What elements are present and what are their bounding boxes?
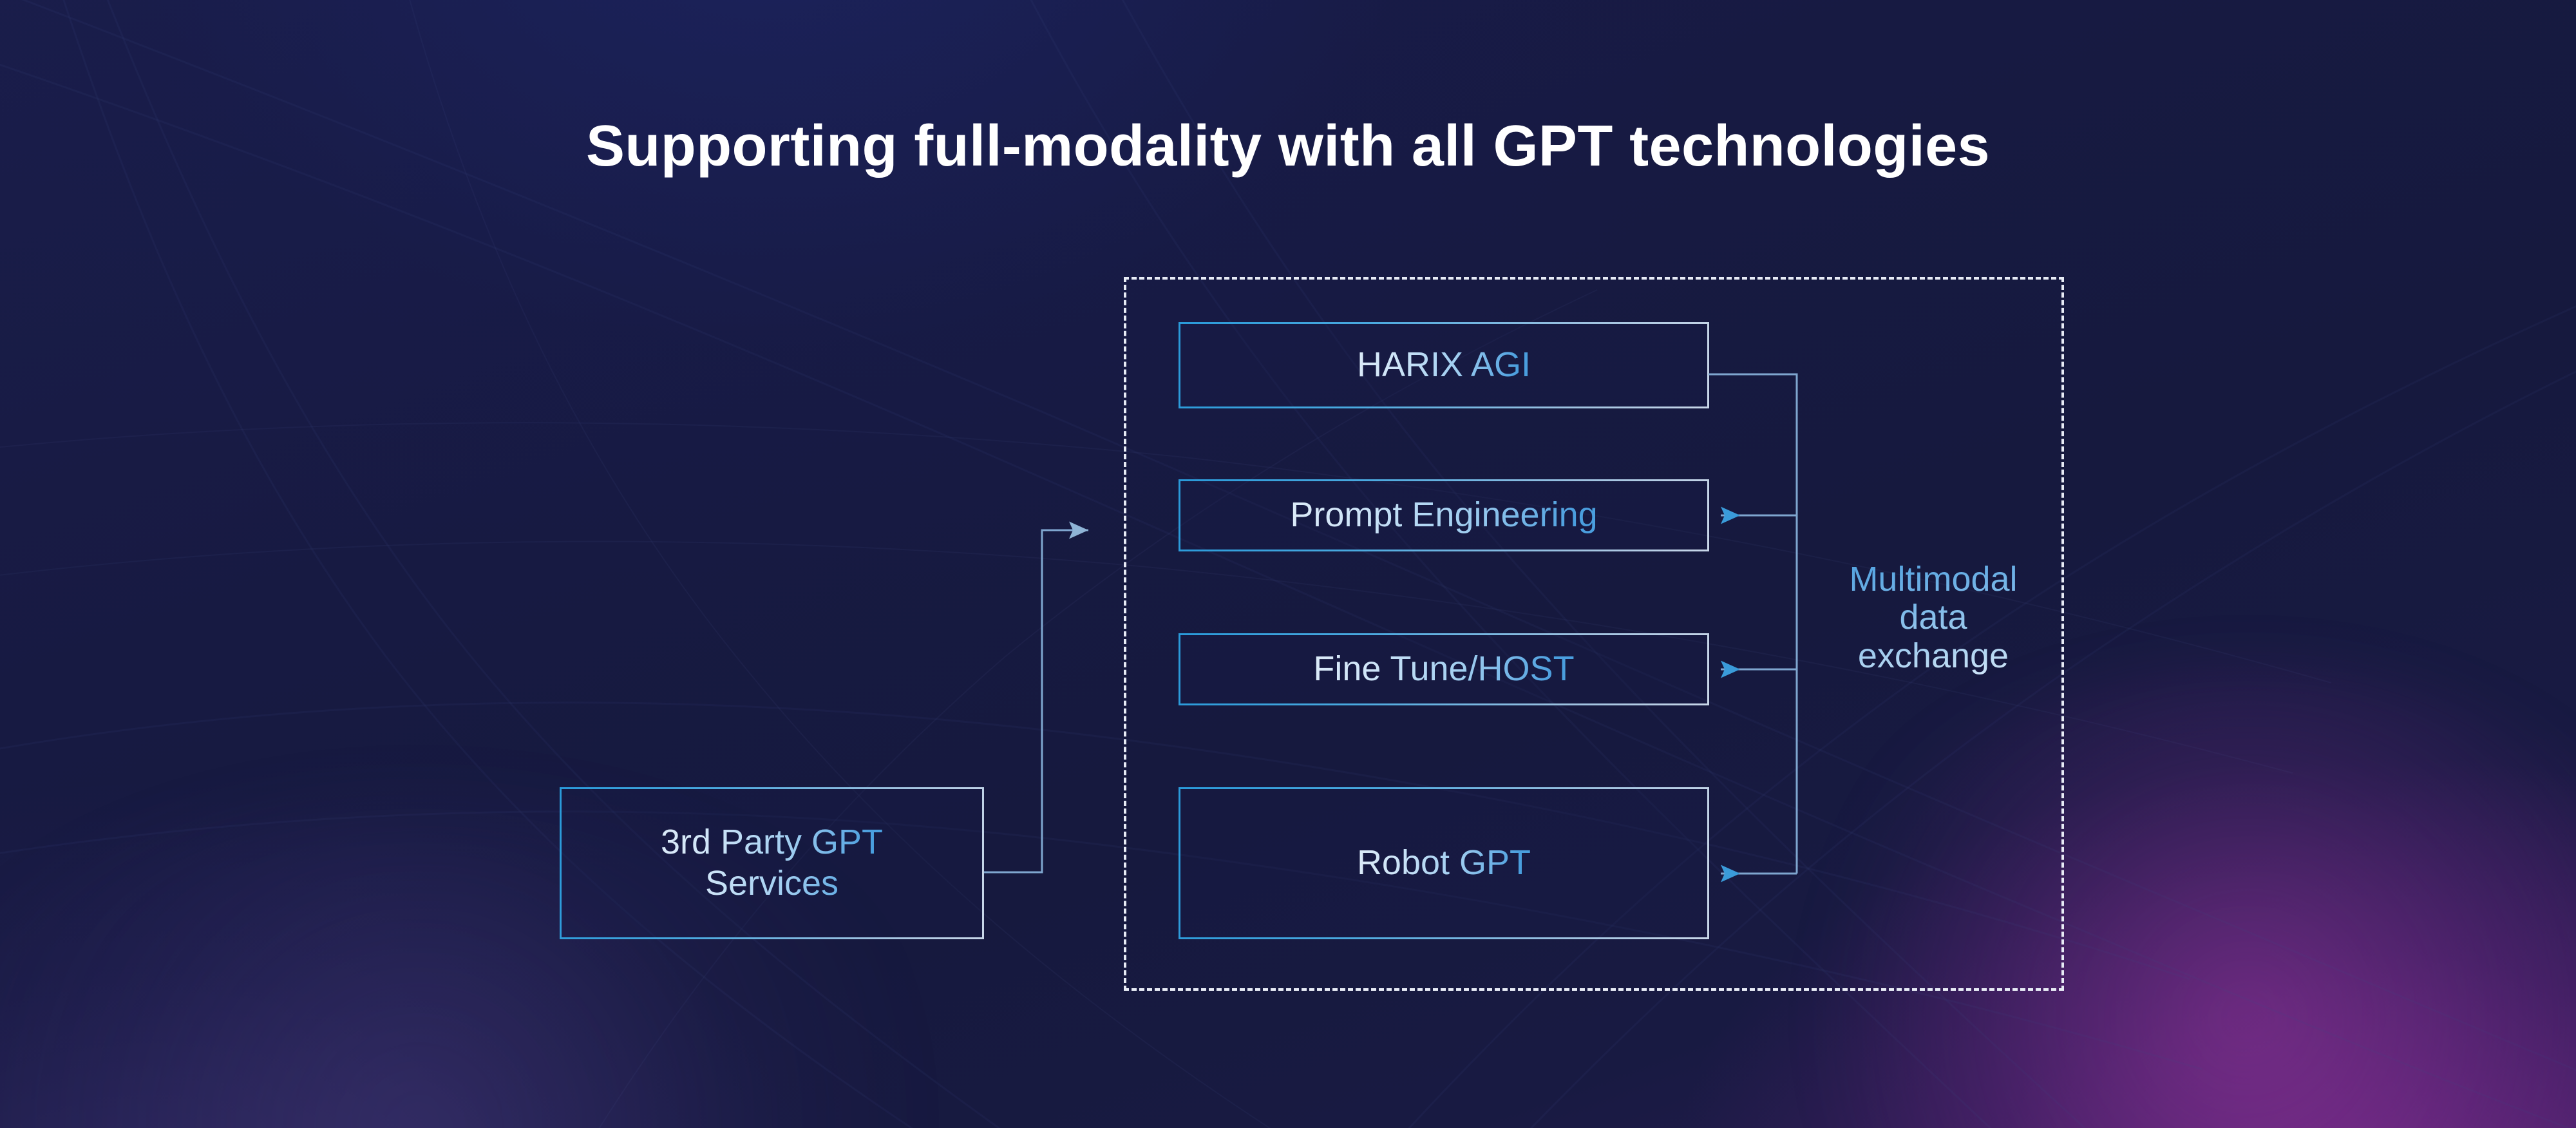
page-title: Supporting full-modality with all GPT te… [0, 113, 2576, 180]
node-harix-agi[interactable]: HARIX AGI [1179, 322, 1709, 408]
node-prompt-engineering-label: Prompt Engineering [1290, 495, 1597, 536]
node-fine-tune-host-label: Fine Tune/HOST [1313, 649, 1574, 690]
node-third-party-gpt-services[interactable]: 3rd Party GPT Services [560, 787, 984, 939]
node-fine-tune-host[interactable]: Fine Tune/HOST [1179, 633, 1709, 705]
node-robot-gpt[interactable]: Robot GPT [1179, 787, 1709, 939]
node-robot-gpt-label: Robot GPT [1357, 843, 1531, 884]
node-harix-agi-label: HARIX AGI [1357, 345, 1531, 386]
multimodal-data-exchange-caption: Multimodal data exchange [1817, 560, 2049, 675]
node-prompt-engineering[interactable]: Prompt Engineering [1179, 479, 1709, 551]
slide-canvas: Supporting full-modality with all GPT te… [0, 0, 2576, 1128]
node-third-party-gpt-services-label: 3rd Party GPT Services [661, 822, 883, 904]
